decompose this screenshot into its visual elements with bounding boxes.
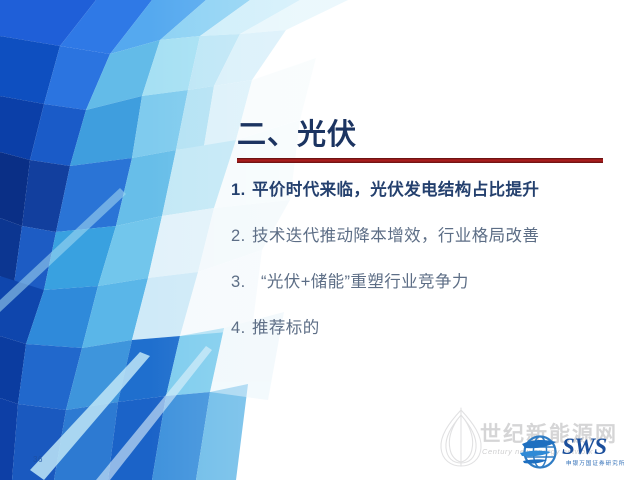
agenda-item-2-label: 技术迭代推动降本增效，行业格局改善 — [252, 222, 539, 246]
page-title: 二、光伏 — [237, 116, 607, 154]
agenda-item-2-number: 2. — [231, 227, 252, 246]
watermark-english-text: Century new energy network — [482, 447, 593, 456]
presentation-slide: 二、光伏 1. 平价时代来临，光伏发电结构占比提升 2. 技术迭代推动降本增效，… — [0, 0, 640, 480]
polygon-cluster-middle — [0, 140, 236, 290]
agenda-item-4-label: 推荐标的 — [252, 314, 320, 338]
page-number: 36 — [33, 455, 43, 464]
agenda-item-2[interactable]: 2. 技术迭代推动降本增效，行业格局改善 — [231, 222, 631, 268]
agenda-item-3[interactable]: 3. “光伏+储能”重塑行业竞争力 — [231, 268, 631, 314]
sws-wordmark: SWS — [562, 435, 607, 458]
watermark-group: 世纪新能源网 Century new energy network SWS 申银… — [432, 404, 640, 480]
flame-outline-icon — [432, 406, 490, 468]
agenda-item-1-label: 平价时代来临，光伏发电结构占比提升 — [252, 176, 539, 200]
agenda-item-4-number: 4. — [231, 319, 252, 338]
agenda-item-3-label: “光伏+储能”重塑行业竞争力 — [252, 268, 469, 292]
agenda-item-4[interactable]: 4. 推荐标的 — [231, 314, 631, 360]
agenda-list: 1. 平价时代来临，光伏发电结构占比提升 2. 技术迭代推动降本增效，行业格局改… — [231, 176, 631, 360]
agenda-item-1[interactable]: 1. 平价时代来临，光伏发电结构占比提升 — [231, 176, 631, 222]
title-block: 二、光伏 — [237, 116, 607, 163]
watermark-chinese-text: 世纪新能源网 — [480, 418, 618, 448]
agenda-item-3-number: 3. — [231, 273, 252, 292]
sws-logo: SWS 申银万国证券研究所 — [518, 430, 638, 474]
agenda-item-1-number: 1. — [231, 181, 252, 200]
title-underline-rule — [237, 158, 603, 163]
polygon-cluster-bottom — [0, 188, 248, 480]
globe-swoosh-icon — [518, 430, 562, 474]
sws-subtext: 申银万国证券研究所 — [566, 459, 625, 467]
